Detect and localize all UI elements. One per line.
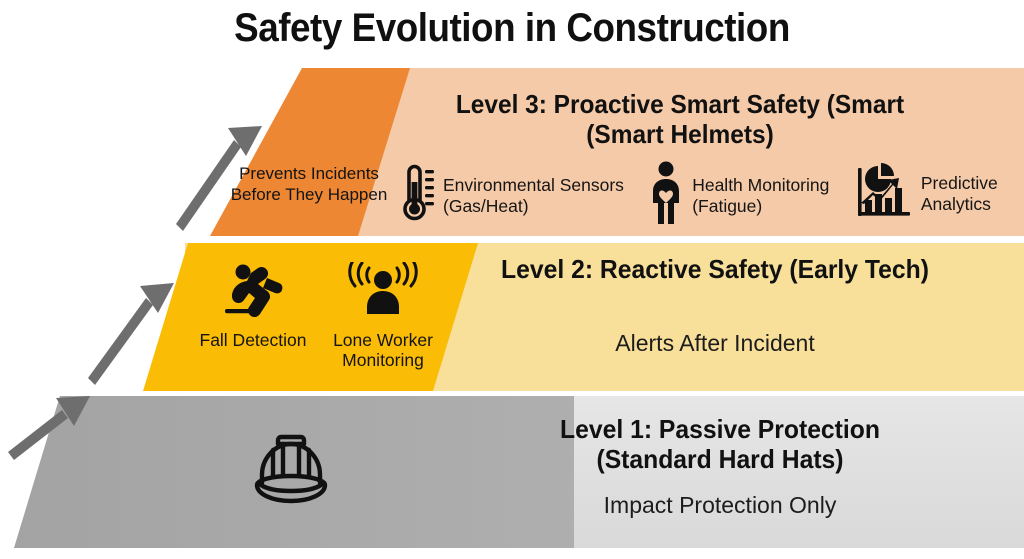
feature-predictive-analytics: Predictive Analytics [854, 160, 1012, 227]
level-1-heading-line1: Level 1: Passive Protection [560, 414, 880, 444]
thermometer-icon [396, 160, 436, 231]
level-2-feature-list: Fall Detection [188, 262, 448, 386]
level-1-subheading: Impact Protection Only [430, 492, 1010, 520]
feature-health-monitoring: Health Monitoring (Fatigue) [647, 160, 834, 231]
level-3-feature-list: Environmental Sensors (Gas/Heat) Health … [396, 160, 1012, 234]
hard-hat-icon [243, 427, 339, 516]
level-2-heading: Level 2: Reactive Safety (Early Tech) [435, 255, 996, 285]
feature-lone-worker-monitoring: Lone Worker Monitoring [329, 262, 437, 386]
level-3-heading-line1: Level 3: Proactive Smart Safety (Smart [456, 89, 904, 119]
level-1-heading-line2: (Standard Hard Hats) [596, 444, 843, 474]
level-1-heading: Level 1: Passive Protection (Standard Ha… [445, 415, 996, 474]
level-3-heading-line2: (Smart Helmets) [586, 119, 773, 149]
feature-label: Health Monitoring (Fatigue) [692, 175, 834, 216]
feature-environmental-sensors: Environmental Sensors (Gas/Heat) [396, 160, 627, 231]
level-3-triangle-caption: Prevents Incidents Before They Happen [228, 164, 390, 205]
feature-label: Fall Detection [200, 331, 307, 351]
feature-label: Environmental Sensors (Gas/Heat) [443, 175, 627, 216]
feature-label: Predictive Analytics [921, 173, 1012, 214]
predictive-chart-icon [854, 160, 914, 227]
level-3-heading: Level 3: Proactive Smart Safety (Smart (… [379, 90, 981, 149]
feature-fall-detection: Fall Detection [199, 262, 307, 386]
lone-worker-signal-icon [347, 262, 419, 327]
person-heart-icon [647, 160, 685, 231]
falling-person-icon [217, 262, 289, 327]
page-title: Safety Evolution in Construction [41, 6, 983, 51]
level-2-subheading: Alerts After Incident [420, 330, 1010, 358]
infographic-canvas: Safety Evolution in Construction [0, 0, 1024, 559]
